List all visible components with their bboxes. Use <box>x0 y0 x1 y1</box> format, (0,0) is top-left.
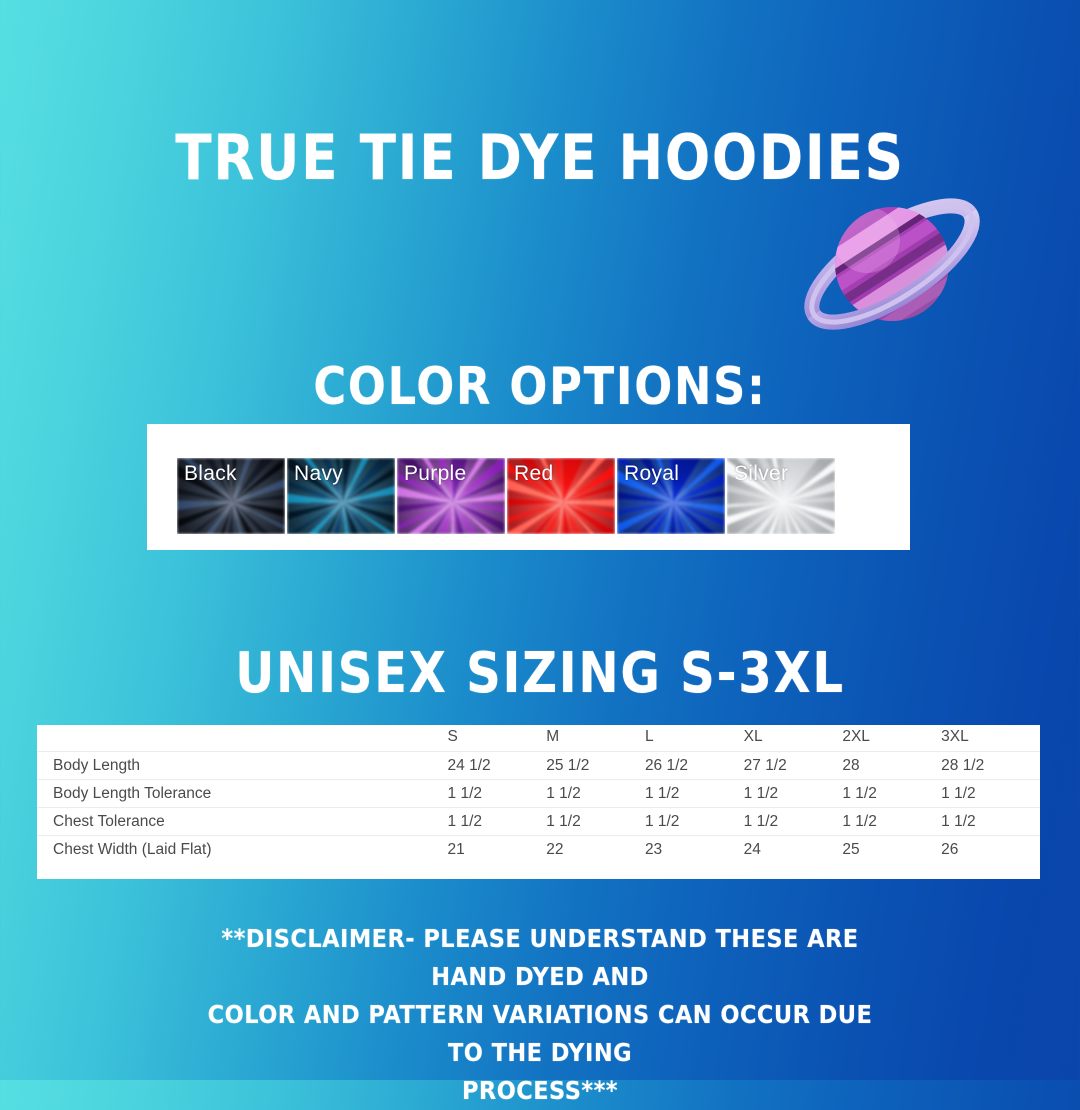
table-header-cell: 3XL <box>941 725 1040 752</box>
color-options-heading: COLOR OPTIONS: <box>76 358 1005 416</box>
table-cell: 1 1/2 <box>941 808 1040 836</box>
table-bottom-padding <box>37 865 1040 879</box>
table-header-cell: M <box>546 725 645 752</box>
table-header-cell <box>37 725 448 752</box>
color-swatch-label: Purple <box>404 462 467 486</box>
table-cell: 1 1/2 <box>645 780 744 808</box>
disclaimer-line-1: **DISCLAIMER- PLEASE UNDERSTAND THESE AR… <box>198 920 882 996</box>
table-header-cell: XL <box>744 725 843 752</box>
color-swatch[interactable]: Red <box>507 458 615 534</box>
saturn-planet-icon <box>795 178 995 350</box>
table-row-label: Body Length Tolerance <box>37 780 448 808</box>
table-cell: 27 1/2 <box>744 752 843 780</box>
table-cell: 26 <box>941 836 1040 866</box>
disclaimer-text: **DISCLAIMER- PLEASE UNDERSTAND THESE AR… <box>198 920 882 1110</box>
table-header-cell: 2XL <box>842 725 941 752</box>
table-header-cell: L <box>645 725 744 752</box>
table-header-cell: S <box>448 725 547 752</box>
table-cell: 28 1/2 <box>941 752 1040 780</box>
table-cell: 1 1/2 <box>448 808 547 836</box>
table-cell: 26 1/2 <box>645 752 744 780</box>
table-row: Body Length Tolerance 1 1/2 1 1/2 1 1/2 … <box>37 780 1040 808</box>
table-cell: 1 1/2 <box>744 780 843 808</box>
table-row-label: Chest Tolerance <box>37 808 448 836</box>
table-cell: 1 1/2 <box>546 808 645 836</box>
color-swatch-label: Silver <box>734 462 788 486</box>
color-swatch[interactable]: Navy <box>287 458 395 534</box>
color-swatch[interactable]: Silver <box>727 458 835 534</box>
sizing-heading: UNISEX SIZING S-3XL <box>76 643 1005 705</box>
table-row-label: Chest Width (Laid Flat) <box>37 836 448 866</box>
table-cell: 23 <box>645 836 744 866</box>
table-cell: 1 1/2 <box>842 808 941 836</box>
table-cell: 1 1/2 <box>941 780 1040 808</box>
color-swatch[interactable]: Black <box>177 458 285 534</box>
table-cell: 25 1/2 <box>546 752 645 780</box>
table-cell: 24 <box>744 836 843 866</box>
size-chart-table: S M L XL 2XL 3XL Body Length 24 1/2 25 1… <box>37 725 1040 879</box>
color-swatch-label: Black <box>184 462 237 486</box>
table-cell: 28 <box>842 752 941 780</box>
color-swatch-panel: Black Navy Purple Red Royal Silver <box>147 424 910 550</box>
disclaimer-line-2: COLOR AND PATTERN VARIATIONS CAN OCCUR D… <box>198 996 882 1072</box>
poster-canvas: TRUE TIE DYE HOODIES <box>0 0 1080 1080</box>
table-cell: 1 1/2 <box>546 780 645 808</box>
color-swatch-label: Navy <box>294 462 343 486</box>
color-swatch[interactable]: Royal <box>617 458 725 534</box>
color-swatch-label: Royal <box>624 462 679 486</box>
table-cell: 1 1/2 <box>842 780 941 808</box>
color-swatch-strip: Black Navy Purple Red Royal Silver <box>177 458 835 534</box>
color-swatch[interactable]: Purple <box>397 458 505 534</box>
table-header-row: S M L XL 2XL 3XL <box>37 725 1040 752</box>
table-cell: 22 <box>546 836 645 866</box>
table-cell: 1 1/2 <box>645 808 744 836</box>
table-row: Chest Width (Laid Flat) 21 22 23 24 25 2… <box>37 836 1040 866</box>
table-row-label: Body Length <box>37 752 448 780</box>
disclaimer-line-3: PROCESS*** <box>198 1072 882 1110</box>
color-swatch-label: Red <box>514 462 553 486</box>
table-cell: 1 1/2 <box>448 780 547 808</box>
table-cell: 1 1/2 <box>744 808 843 836</box>
table-cell: 25 <box>842 836 941 866</box>
table-row: Chest Tolerance 1 1/2 1 1/2 1 1/2 1 1/2 … <box>37 808 1040 836</box>
table-cell: 21 <box>448 836 547 866</box>
table-row: Body Length 24 1/2 25 1/2 26 1/2 27 1/2 … <box>37 752 1040 780</box>
table-cell: 24 1/2 <box>448 752 547 780</box>
